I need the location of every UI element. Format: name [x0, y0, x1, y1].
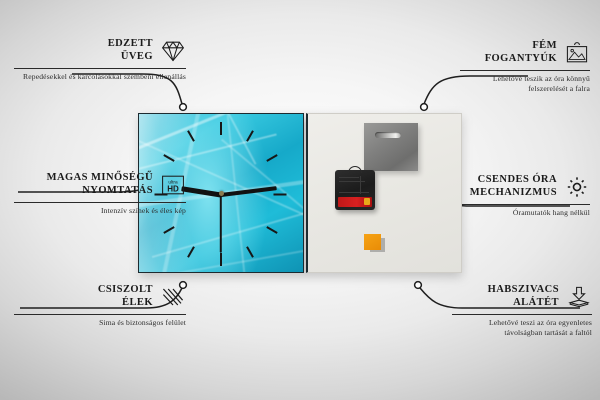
feature-title: EDZETT ÜVEG: [108, 38, 153, 64]
clock-center-pin: [219, 191, 224, 196]
feature-description: Sima és biztonságos felület: [14, 318, 186, 328]
connector-dot-tempered-glass: [180, 104, 187, 111]
feature-description: Repedésekkel és karcolásokkal szembeni e…: [14, 72, 186, 82]
feature-divider: [14, 314, 186, 315]
mechanism-battery: [338, 197, 372, 207]
feature-title-line: NYOMTATÁS: [47, 185, 153, 198]
feature-description: Lehetővé teszi az óra egyenletes távolsá…: [452, 318, 592, 338]
feature-title-line: MAGAS MINŐSÉGŰ: [47, 172, 153, 185]
feature-title-line: CSENDES ÓRA: [470, 174, 557, 187]
clock-mechanism: [335, 170, 375, 210]
feature-title-line: HABSZIVACS: [488, 284, 559, 297]
svg-text:HD: HD: [167, 184, 179, 193]
feature-description: Óramutatók hang nélkül: [462, 208, 590, 218]
ultra-hd-icon: ultra HD: [160, 173, 186, 197]
diamond-icon: [160, 39, 186, 63]
feature-header: FÉM FOGANTYÚK: [460, 40, 590, 66]
feature-divider: [460, 70, 590, 71]
feature-silent-mechanism: CSENDES ÓRA MECHANIZMUS Óramutatók hang …: [462, 174, 590, 218]
metal-hanger: [364, 123, 418, 171]
clock-tick: [274, 194, 287, 196]
hanger-slot: [375, 132, 401, 138]
feature-header: MAGAS MINŐSÉGŰ NYOMTATÁS ultra HD: [14, 172, 186, 198]
feature-header: HABSZIVACS ALÁTÉT: [452, 284, 592, 310]
feature-divider: [14, 202, 186, 203]
feature-title-line: FOGANTYÚK: [485, 53, 557, 66]
feature-title-line: CSISZOLT: [98, 284, 153, 297]
feature-header: CSISZOLT ÉLEK: [14, 284, 186, 310]
clock-tick: [220, 253, 222, 266]
foam-press-icon: [566, 285, 592, 309]
feature-divider: [452, 314, 592, 315]
feature-title-line: ÜVEG: [108, 51, 153, 64]
feature-foam-backing: HABSZIVACS ALÁTÉT Lehetővé teszi az óra …: [452, 284, 592, 338]
feature-title: HABSZIVACS ALÁTÉT: [488, 284, 559, 310]
connector-dot-handles: [421, 104, 428, 111]
picture-hanger-icon: [564, 41, 590, 65]
feature-polished-edges: CSISZOLT ÉLEK Sima és biztonságos felüle…: [14, 284, 186, 328]
feature-tempered-glass: EDZETT ÜVEG Repedésekkel és karcolásokka…: [14, 38, 186, 82]
feature-title-line: ALÁTÉT: [488, 297, 559, 310]
feature-title-line: EDZETT: [108, 38, 153, 51]
clock-tick: [220, 122, 222, 135]
feature-divider: [14, 68, 186, 69]
battery-terminal: [364, 198, 370, 205]
foam-pad: [364, 234, 381, 250]
feature-header: CSENDES ÓRA MECHANIZMUS: [462, 174, 590, 200]
feature-divider: [462, 204, 590, 205]
feature-metal-handles: FÉM FOGANTYÚK Lehetővé teszik az óra kön…: [460, 40, 590, 94]
product-image: [138, 113, 462, 275]
feature-title: MAGAS MINŐSÉGŰ NYOMTATÁS: [47, 172, 153, 198]
infographic-stage: EDZETT ÜVEG Repedésekkel és karcolásokka…: [0, 0, 600, 400]
feature-title: FÉM FOGANTYÚK: [485, 40, 557, 66]
mechanism-loop: [348, 166, 362, 173]
feature-description: Lehetővé teszik az óra könnyű felszerelé…: [460, 74, 590, 94]
feature-title: CSENDES ÓRA MECHANIZMUS: [470, 174, 557, 200]
feature-title-line: ÉLEK: [98, 297, 153, 310]
feature-description: Intenzív színek és éles kép: [14, 206, 186, 216]
polished-edges-icon: [160, 285, 186, 309]
feature-title: CSISZOLT ÉLEK: [98, 284, 153, 310]
clock-second-hand: [220, 195, 222, 253]
connector-dot-foam: [415, 282, 422, 289]
clock-back-panel: [306, 113, 462, 273]
gear-icon: [564, 175, 590, 199]
feature-title-line: MECHANIZMUS: [470, 187, 557, 200]
feature-header: EDZETT ÜVEG: [14, 38, 186, 64]
feature-title-line: FÉM: [485, 40, 557, 53]
feature-high-quality-print: MAGAS MINŐSÉGŰ NYOMTATÁS ultra HD Intenz…: [14, 172, 186, 216]
